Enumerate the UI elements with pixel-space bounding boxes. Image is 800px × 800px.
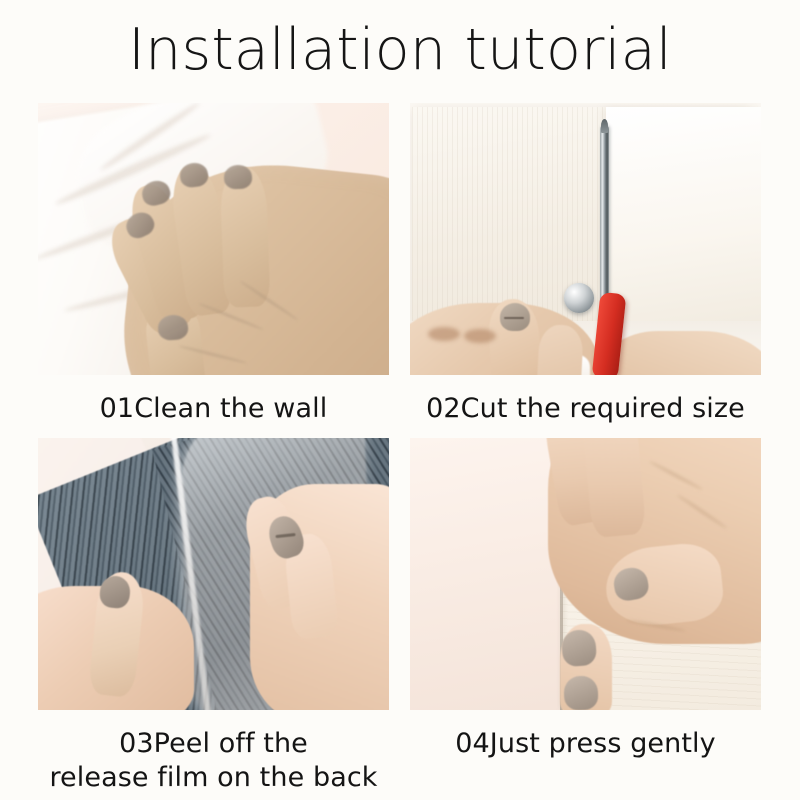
step-3-caption-line-1: 03Peel off the — [38, 727, 389, 761]
step-1-caption: 01Clean the wall — [38, 392, 389, 426]
installation-tutorial-page: Installation tutorial — [0, 0, 800, 800]
step-4-caption: 04Just press gently — [410, 727, 761, 761]
step-1-clean-the-wall-photo — [38, 103, 389, 375]
step-3-caption-line-2: release film on the back — [38, 761, 389, 795]
step-1-caption-line-1: 01Clean the wall — [38, 392, 389, 426]
wall-surface — [410, 438, 560, 710]
thumbnail — [500, 303, 530, 331]
scissors-blade — [600, 125, 609, 311]
step-3-caption: 03Peel off the release film on the back — [38, 727, 389, 795]
step-card-04: 04Just press gently — [410, 438, 761, 761]
step-card-03: 03Peel off the release film on the back — [38, 438, 389, 795]
scissors-pivot-screw — [564, 283, 594, 313]
fingernail — [224, 165, 253, 190]
step-card-02: 02Cut the required size — [410, 103, 761, 426]
step-card-01: 01Clean the wall — [38, 103, 389, 426]
page-title: Installation tutorial — [0, 14, 800, 86]
step-4-just-press-gently-photo — [410, 438, 761, 710]
scissors-blade-tip — [601, 119, 608, 133]
steps-grid: 01Clean the wall — [38, 103, 765, 713]
wall-panel-right-section — [606, 107, 761, 321]
step-2-caption-line-1: 02Cut the required size — [410, 392, 761, 426]
step-2-cut-the-required-size-photo — [410, 103, 761, 375]
knuckle-crease — [428, 327, 460, 341]
fingernail — [563, 675, 598, 710]
step-4-caption-line-1: 04Just press gently — [410, 727, 761, 761]
step-2-caption: 02Cut the required size — [410, 392, 761, 426]
step-3-peel-off-release-film-photo — [38, 438, 389, 710]
knuckle-crease — [464, 329, 496, 343]
